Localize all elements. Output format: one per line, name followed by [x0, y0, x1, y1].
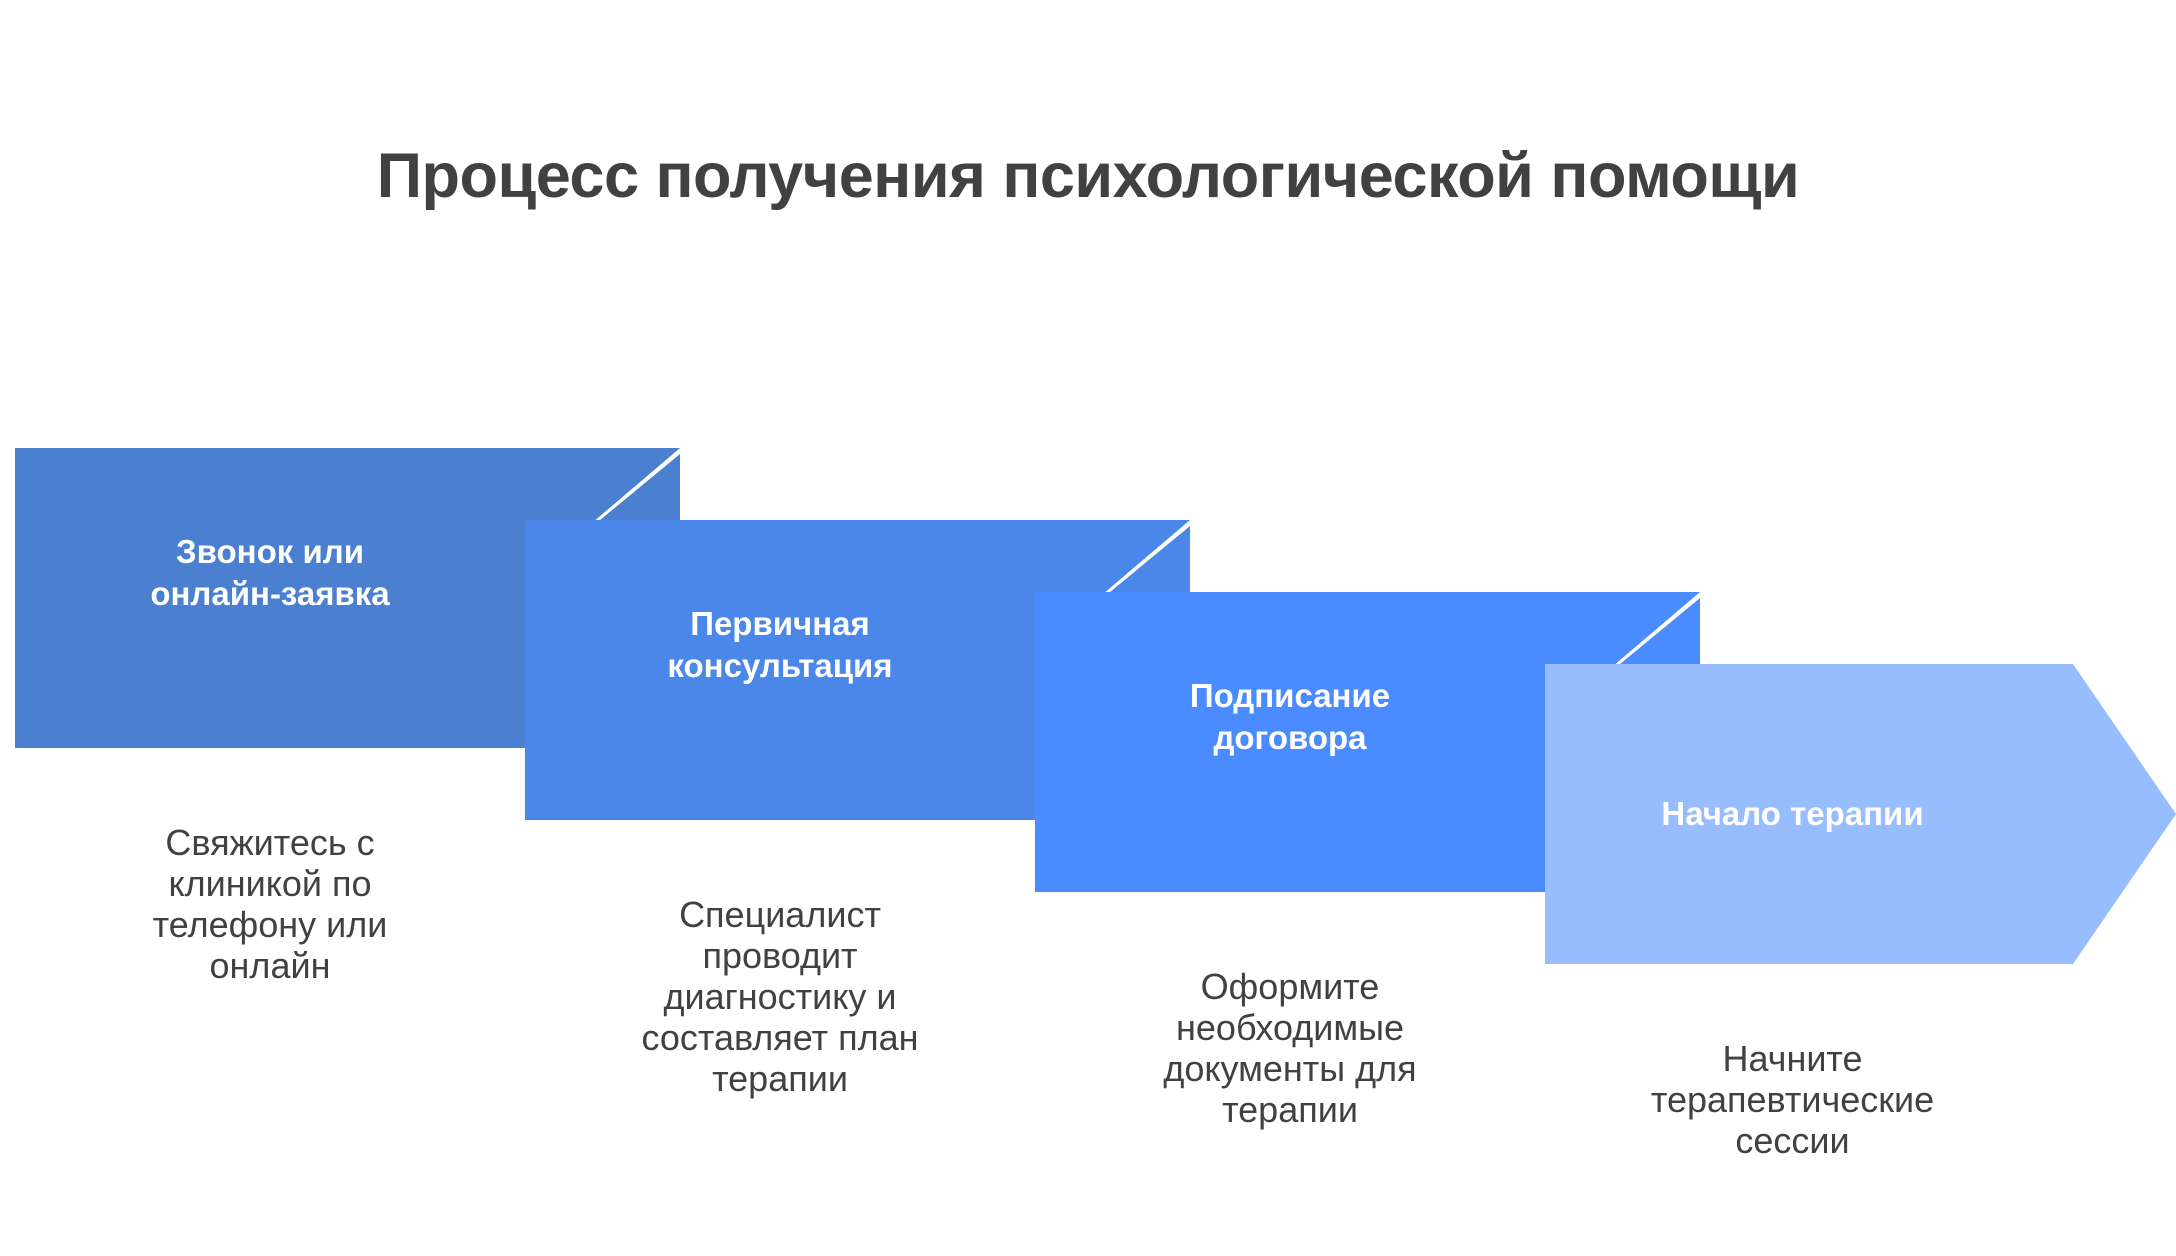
step-4-caption: Начните терапевтические сессии — [1545, 1038, 2040, 1161]
step-1-label: Звонок или онлайн-заявка — [15, 503, 525, 643]
step-4-label: Начало терапии — [1545, 744, 2040, 884]
step-2-label: Первичная консультация — [525, 575, 1035, 715]
process-step-4[interactable]: Начало терапии — [1545, 664, 2176, 964]
process-flow-diagram: Звонок или онлайн-заявка Свяжитесь с кли… — [0, 0, 2176, 1256]
slide-canvas: Процесс получения психологической помощи… — [0, 0, 2176, 1256]
step-1-caption: Свяжитесь с клиникой по телефону или онл… — [15, 822, 525, 986]
step-3-caption: Оформите необходимые документы для терап… — [1035, 966, 1545, 1130]
step-2-caption: Специалист проводит диагностику и состав… — [525, 894, 1035, 1099]
step-3-label: Подписание договора — [1035, 647, 1545, 787]
